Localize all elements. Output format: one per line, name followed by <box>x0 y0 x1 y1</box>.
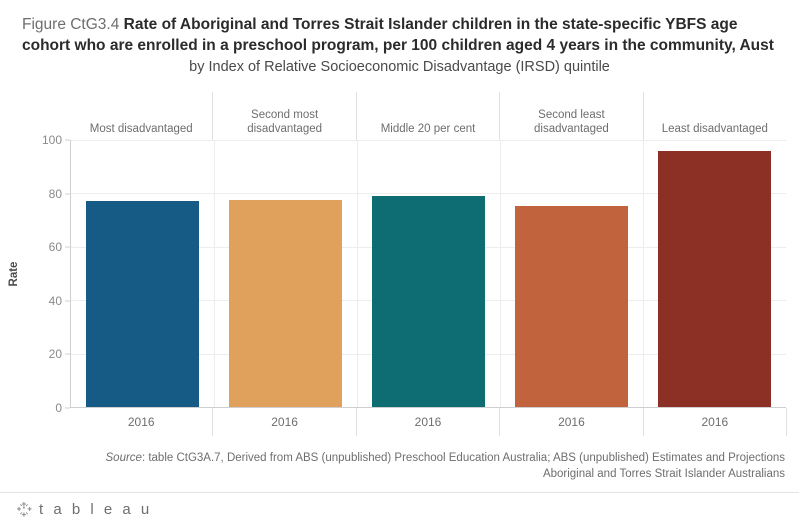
bar-least-disadvantaged[interactable] <box>658 151 771 407</box>
bar-cell-2 <box>357 140 500 407</box>
bar-series <box>71 140 786 407</box>
x-tick-label-0: 2016 <box>70 408 212 436</box>
bar-middle-20-per-cent[interactable] <box>372 196 485 407</box>
bar-cell-0 <box>71 140 214 407</box>
source-text-1: : table CtG3A.7, Derived from ABS (unpub… <box>142 452 785 464</box>
plot-region <box>70 140 786 408</box>
y-axis: Rate 100 80 60 40 20 0 <box>0 140 70 408</box>
y-tick-label-40: 40 <box>49 294 62 308</box>
chart-subtitle: by Index of Relative Socioeconomic Disad… <box>14 56 785 78</box>
category-header-least-disadvantaged: Least disadvantaged <box>643 92 786 140</box>
title-text-part-2: cohort who are enrolled in a preschool p… <box>14 35 785 56</box>
y-axis-title: Rate <box>8 262 20 287</box>
category-header-second-least-disadvantaged: Second least disadvantaged <box>499 92 642 140</box>
title-text-part-1: Rate of Aboriginal and Torres Strait Isl… <box>124 16 738 33</box>
source-note: Source: table CtG3A.7, Derived from ABS … <box>0 450 799 482</box>
tableau-wordmark: t a b l e a u <box>39 501 152 518</box>
bar-cell-3 <box>500 140 643 407</box>
y-tick-label-100: 100 <box>42 133 62 147</box>
source-label: Source <box>106 452 142 464</box>
x-axis: 2016 2016 2016 2016 2016 <box>70 408 786 436</box>
y-tick-label-60: 60 <box>49 240 62 254</box>
x-tick-label-3: 2016 <box>499 408 642 436</box>
chart-title-block: Figure CtG3.4 Rate of Aboriginal and Tor… <box>0 0 799 78</box>
source-line-1: Source: table CtG3A.7, Derived from ABS … <box>14 450 785 466</box>
bar-most-disadvantaged[interactable] <box>86 201 199 407</box>
figure-number: Figure CtG3.4 <box>22 16 119 33</box>
x-tick-label-2: 2016 <box>356 408 499 436</box>
tableau-mark-icon <box>16 501 33 518</box>
category-header-most-disadvantaged: Most disadvantaged <box>70 92 212 140</box>
x-tick-label-1: 2016 <box>212 408 355 436</box>
chart-area: Most disadvantaged Second most disadvant… <box>0 92 799 437</box>
tableau-footer-bar: t a b l e a u <box>0 492 799 526</box>
bar-cell-1 <box>214 140 357 407</box>
x-tick-label-4: 2016 <box>643 408 786 436</box>
category-header-middle-20-per-cent: Middle 20 per cent <box>356 92 499 140</box>
title-line-1: Figure CtG3.4 Rate of Aboriginal and Tor… <box>14 14 785 35</box>
x-axis-right-edge <box>786 408 787 436</box>
y-tick-label-20: 20 <box>49 347 62 361</box>
y-tick-label-80: 80 <box>49 187 62 201</box>
category-header-row: Most disadvantaged Second most disadvant… <box>70 92 786 141</box>
tableau-logo[interactable]: t a b l e a u <box>16 501 152 518</box>
bar-cell-4 <box>643 140 786 407</box>
source-line-2: Aboriginal and Torres Strait Islander Au… <box>14 466 785 482</box>
bar-second-most-disadvantaged[interactable] <box>229 200 342 407</box>
bar-second-least-disadvantaged[interactable] <box>515 206 628 407</box>
y-tick-label-0: 0 <box>55 401 62 415</box>
category-header-second-most-disadvantaged: Second most disadvantaged <box>212 92 355 140</box>
